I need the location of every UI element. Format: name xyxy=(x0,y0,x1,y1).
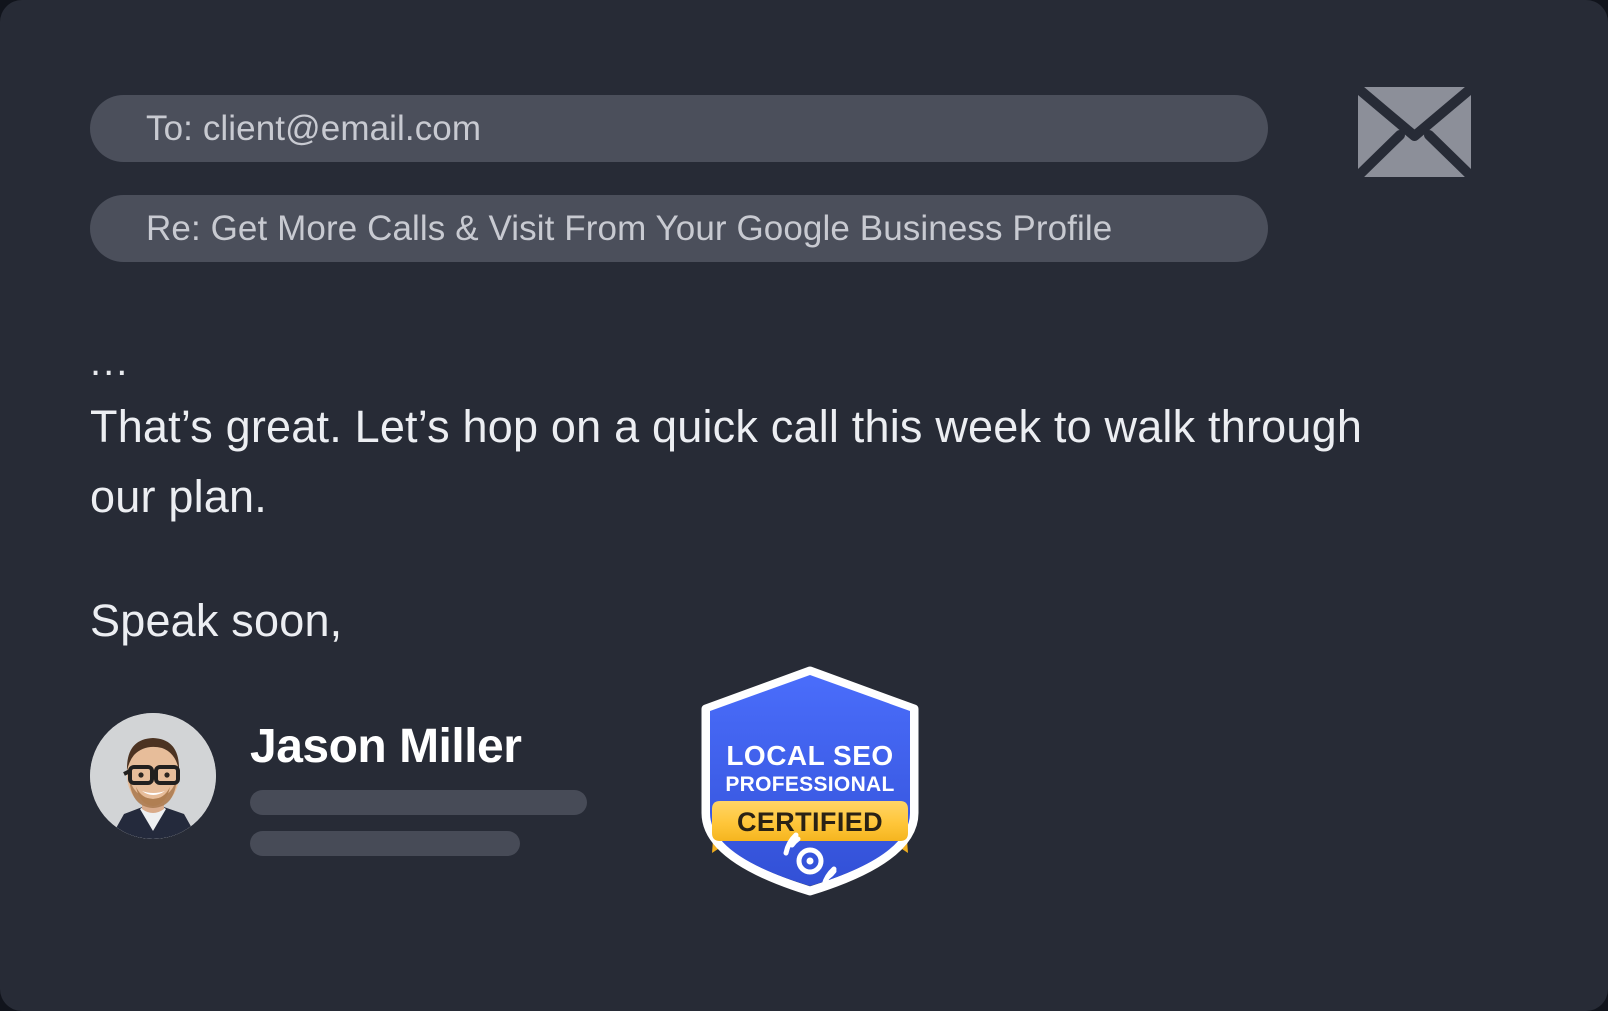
badge-ribbon-label: CERTIFIED xyxy=(737,807,883,837)
signature-name: Jason Miller xyxy=(250,719,521,774)
body-signoff: Speak soon, xyxy=(90,590,342,652)
signature-block: Jason Miller xyxy=(90,713,610,853)
to-field[interactable]: To: client@email.com xyxy=(90,95,1268,162)
subject-field-value: Re: Get More Calls & Visit From Your Goo… xyxy=(90,209,1112,249)
envelope-icon xyxy=(1358,87,1471,177)
avatar xyxy=(90,713,216,839)
to-field-value: To: client@email.com xyxy=(90,109,481,149)
email-preview-card: To: client@email.com Re: Get More Calls … xyxy=(0,0,1608,1011)
body-ellipsis: ... xyxy=(90,338,129,386)
body-paragraph: That’s great. Let’s hop on a quick call … xyxy=(90,392,1420,532)
certification-badge: LOCAL SEO PROFESSIONAL CERTIFIED xyxy=(686,663,934,897)
signature-detail-line-1 xyxy=(250,790,587,815)
badge-title-line-1: LOCAL SEO xyxy=(726,740,893,771)
badge-title-line-2: PROFESSIONAL xyxy=(725,773,894,796)
signature-detail-line-2 xyxy=(250,831,520,856)
subject-field[interactable]: Re: Get More Calls & Visit From Your Goo… xyxy=(90,195,1268,262)
